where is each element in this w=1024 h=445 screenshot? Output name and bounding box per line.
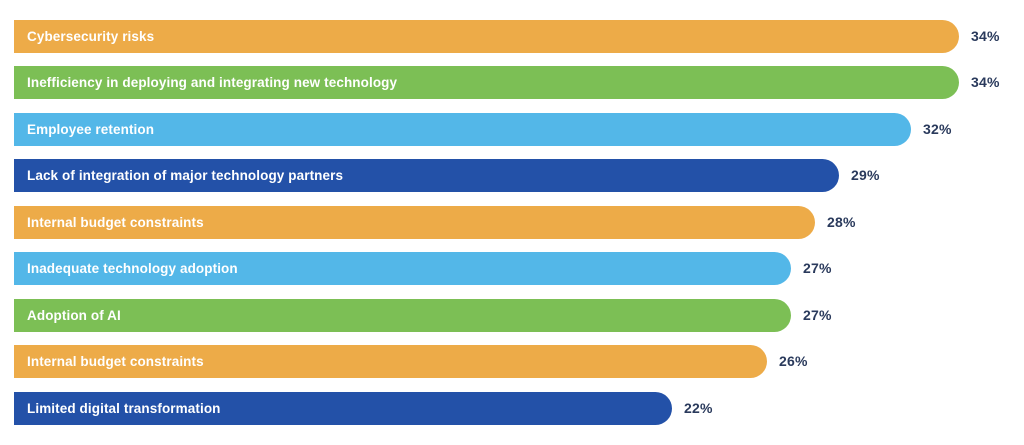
bar-row: Cybersecurity risks34% (0, 20, 1024, 53)
bar: Internal budget constraints (14, 345, 767, 378)
horizontal-bar-chart: Cybersecurity risks34%Inefficiency in de… (0, 0, 1024, 445)
bar: Lack of integration of major technology … (14, 159, 839, 192)
bar-category-label: Limited digital transformation (27, 392, 221, 425)
bar-category-label: Lack of integration of major technology … (27, 159, 343, 192)
bar-category-label: Employee retention (27, 113, 154, 146)
bar-value-label: 34% (971, 20, 1000, 53)
bar: Inefficiency in deploying and integratin… (14, 66, 959, 99)
bar-value-label: 32% (923, 113, 952, 146)
bar-category-label: Inadequate technology adoption (27, 252, 238, 285)
bar-value-label: 28% (827, 206, 856, 239)
bar: Limited digital transformation (14, 392, 672, 425)
bar-row: Employee retention32% (0, 113, 1024, 146)
bar: Inadequate technology adoption (14, 252, 791, 285)
bar-category-label: Inefficiency in deploying and integratin… (27, 66, 397, 99)
bar-value-label: 34% (971, 66, 1000, 99)
bar-category-label: Cybersecurity risks (27, 20, 154, 53)
bar-row: Lack of integration of major technology … (0, 159, 1024, 192)
bar-row: Adoption of AI27% (0, 299, 1024, 332)
bar-row: Internal budget constraints28% (0, 206, 1024, 239)
bar-value-label: 26% (779, 345, 808, 378)
bar-value-label: 27% (803, 299, 832, 332)
bar-category-label: Internal budget constraints (27, 345, 204, 378)
bar-category-label: Adoption of AI (27, 299, 121, 332)
bar-row: Inefficiency in deploying and integratin… (0, 66, 1024, 99)
bar-value-label: 29% (851, 159, 880, 192)
bar: Employee retention (14, 113, 911, 146)
bar-row: Inadequate technology adoption27% (0, 252, 1024, 285)
bar: Internal budget constraints (14, 206, 815, 239)
bar-category-label: Internal budget constraints (27, 206, 204, 239)
bar-value-label: 27% (803, 252, 832, 285)
bar-row: Limited digital transformation22% (0, 392, 1024, 425)
bar-row: Internal budget constraints26% (0, 345, 1024, 378)
bar: Cybersecurity risks (14, 20, 959, 53)
bar-value-label: 22% (684, 392, 713, 425)
bar: Adoption of AI (14, 299, 791, 332)
